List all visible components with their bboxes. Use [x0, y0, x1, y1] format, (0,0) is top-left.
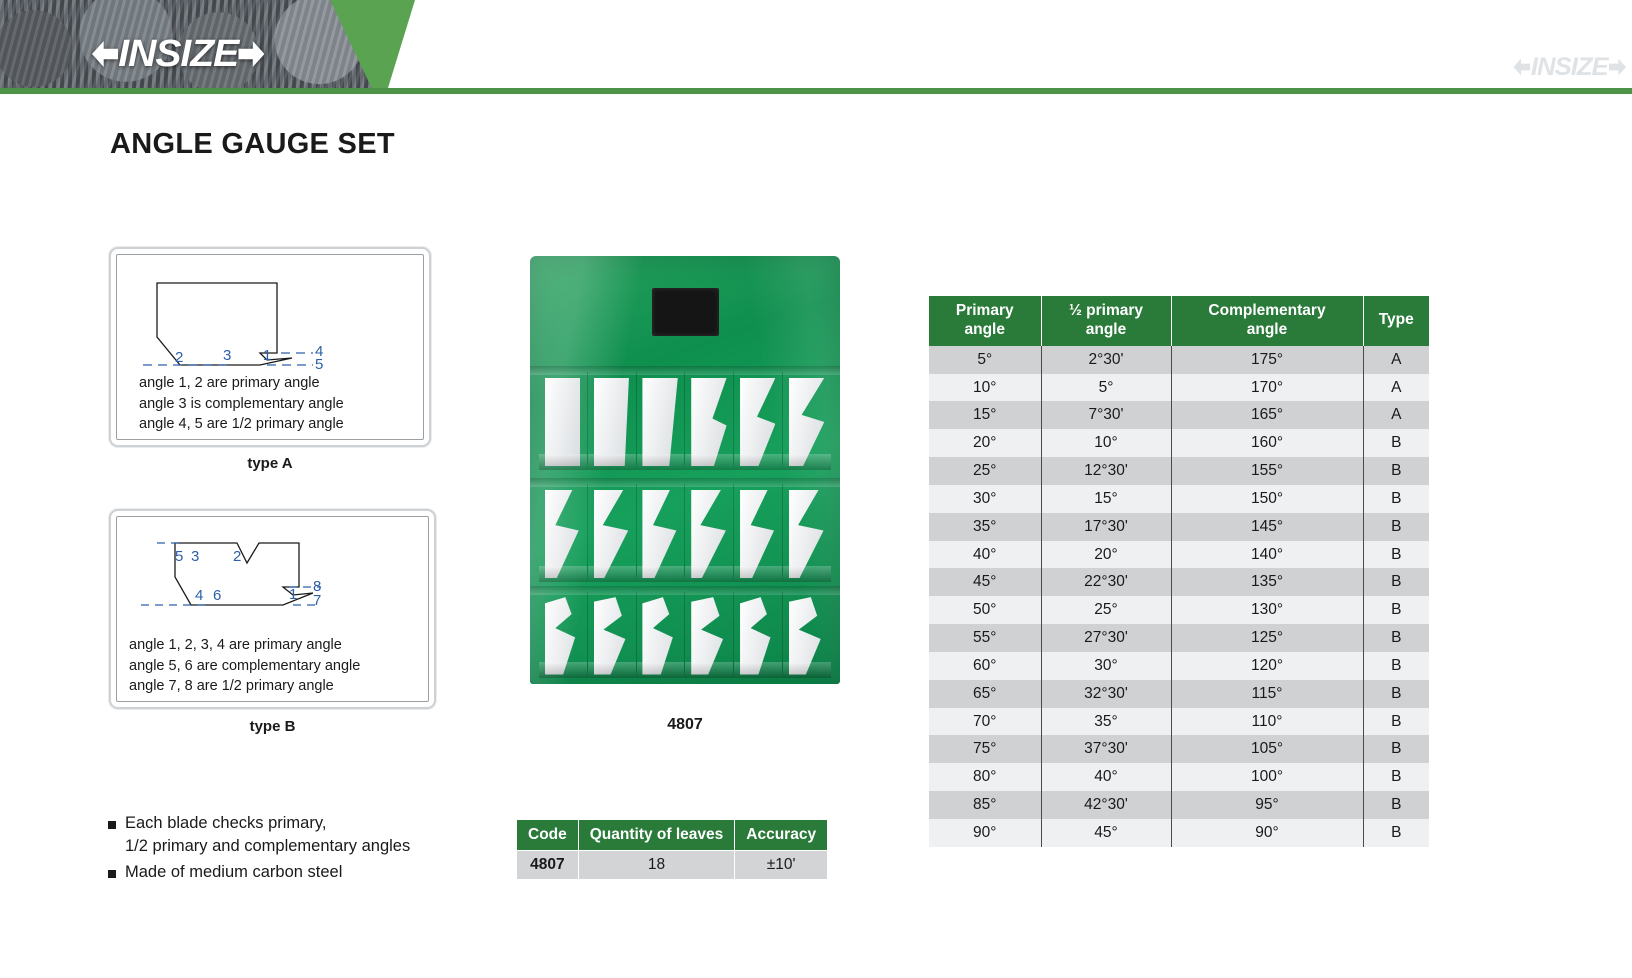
angle-cell-type: B — [1363, 541, 1429, 569]
angle-cell-complementary: 95° — [1171, 791, 1363, 819]
diagram-card-type-b: 5 3 2 4 6 1 8 7 angle 1, 2, 3, 4 are pri… — [109, 509, 436, 709]
angle-cell-half-primary: 35° — [1041, 708, 1171, 736]
angle-cell-half-primary: 40° — [1041, 763, 1171, 791]
angle-cell-type: A — [1363, 346, 1429, 374]
type-b-label-7: 7 — [313, 592, 321, 609]
angle-table-row: 20°10°160°B — [929, 429, 1429, 457]
square-bullet-icon — [108, 870, 116, 878]
angle-cell-type: B — [1363, 791, 1429, 819]
type-b-label-2: 2 — [233, 548, 241, 565]
angle-cell-half-primary: 17°30' — [1041, 513, 1171, 541]
logo-right-arrow-icon — [238, 41, 264, 67]
angle-cell-type: B — [1363, 652, 1429, 680]
watermark-left-arrow-icon — [1513, 59, 1530, 76]
blade-pocket — [783, 372, 831, 470]
angle-cell-primary: 5° — [929, 346, 1041, 374]
type-b-caption: type B — [109, 718, 436, 735]
feature-text: Made of medium carbon steel — [125, 861, 342, 884]
angle-cell-complementary: 125° — [1171, 624, 1363, 652]
square-bullet-icon — [108, 821, 116, 829]
spec-table-header-row: Code Quantity of leaves Accuracy — [517, 820, 828, 851]
angle-cell-type: B — [1363, 763, 1429, 791]
angle-cell-type: B — [1363, 513, 1429, 541]
blade-pocket — [685, 592, 734, 678]
angle-cell-half-primary: 7°30' — [1041, 401, 1171, 429]
insize-watermark: INSIZE — [1513, 52, 1626, 82]
page-title: ANGLE GAUGE SET — [110, 128, 395, 161]
spec-header-accuracy: Accuracy — [735, 820, 828, 851]
angle-cell-half-primary: 30° — [1041, 652, 1171, 680]
type-b-label-6: 6 — [213, 587, 221, 604]
angle-table-row: 5°2°30'175°A — [929, 346, 1429, 374]
angle-cell-half-primary: 5° — [1041, 374, 1171, 402]
angle-header-complementary: Complementary angle — [1171, 296, 1363, 346]
angle-cell-complementary: 100° — [1171, 763, 1363, 791]
angle-table: Primary angle ½ primary angle Complement… — [929, 296, 1429, 847]
angle-cell-complementary: 165° — [1171, 401, 1363, 429]
diagram-inner-border-b: 5 3 2 4 6 1 8 7 angle 1, 2, 3, 4 are pri… — [116, 516, 429, 702]
angle-cell-type: A — [1363, 374, 1429, 402]
blade-pocket — [588, 592, 637, 678]
logo-text: INSIZE — [118, 35, 238, 73]
angle-cell-complementary: 170° — [1171, 374, 1363, 402]
type-b-label-5: 5 — [175, 548, 183, 565]
diagram-card-type-a: 2 3 1 4 5 angle 1, 2 are primary angle a… — [109, 247, 431, 447]
type-a-caption: type A — [109, 455, 431, 472]
angle-table-row: 70°35°110°B — [929, 708, 1429, 736]
blade-pocket — [539, 372, 588, 470]
angle-table-row: 75°37°30'105°B — [929, 735, 1429, 763]
angle-cell-primary: 45° — [929, 568, 1041, 596]
blade-pocket — [637, 484, 686, 582]
blade-pocket — [783, 484, 831, 582]
insize-logo: INSIZE — [92, 34, 264, 74]
blade-pocket — [685, 372, 734, 470]
angle-cell-type: B — [1363, 735, 1429, 763]
watermark-right-arrow-icon — [1609, 59, 1626, 76]
angle-cell-half-primary: 12°30' — [1041, 457, 1171, 485]
angle-table-row: 35°17°30'145°B — [929, 513, 1429, 541]
spec-table: Code Quantity of leaves Accuracy 4807 18… — [516, 819, 828, 880]
angle-cell-type: B — [1363, 485, 1429, 513]
angle-table-row: 90°45°90°B — [929, 819, 1429, 847]
header-green-rule — [0, 88, 1632, 94]
angle-table-row: 25°12°30'155°B — [929, 457, 1429, 485]
angle-cell-type: B — [1363, 819, 1429, 847]
angle-cell-half-primary: 15° — [1041, 485, 1171, 513]
angle-cell-type: B — [1363, 429, 1429, 457]
angle-cell-type: B — [1363, 680, 1429, 708]
angle-cell-half-primary: 45° — [1041, 819, 1171, 847]
product-code-label: 4807 — [530, 716, 840, 734]
angle-table-row: 15°7°30'165°A — [929, 401, 1429, 429]
blade-pocket — [685, 484, 734, 582]
feature-item: Each blade checks primary, 1/2 primary a… — [108, 812, 508, 859]
angle-header-type: Type — [1363, 296, 1429, 346]
angle-cell-primary: 10° — [929, 374, 1041, 402]
logo-left-arrow-icon — [92, 41, 118, 67]
angle-cell-complementary: 155° — [1171, 457, 1363, 485]
angle-table-row: 55°27°30'125°B — [929, 624, 1429, 652]
angle-cell-type: B — [1363, 596, 1429, 624]
angle-cell-complementary: 135° — [1171, 568, 1363, 596]
angle-cell-primary: 60° — [929, 652, 1041, 680]
angle-cell-primary: 65° — [929, 680, 1041, 708]
spec-header-code: Code — [517, 820, 579, 851]
angle-cell-primary: 50° — [929, 596, 1041, 624]
angle-table-header-row: Primary angle ½ primary angle Complement… — [929, 296, 1429, 346]
angle-cell-complementary: 110° — [1171, 708, 1363, 736]
angle-cell-primary: 75° — [929, 735, 1041, 763]
angle-cell-complementary: 115° — [1171, 680, 1363, 708]
angle-table-row: 10°5°170°A — [929, 374, 1429, 402]
blade-pocket — [637, 372, 686, 470]
feature-item: Made of medium carbon steel — [108, 861, 508, 884]
angle-cell-primary: 70° — [929, 708, 1041, 736]
angle-cell-complementary: 150° — [1171, 485, 1363, 513]
page-header: INSIZE INSIZE — [0, 0, 1632, 94]
angle-table-row: 30°15°150°B — [929, 485, 1429, 513]
velcro-patch — [652, 288, 719, 336]
angle-cell-complementary: 145° — [1171, 513, 1363, 541]
blade-row-1 — [539, 372, 831, 470]
angle-cell-primary: 20° — [929, 429, 1041, 457]
angle-table-row: 65°32°30'115°B — [929, 680, 1429, 708]
angle-cell-half-primary: 25° — [1041, 596, 1171, 624]
angle-cell-type: B — [1363, 708, 1429, 736]
spec-table-row: 4807 18 ±10' — [517, 851, 828, 880]
angle-cell-type: B — [1363, 568, 1429, 596]
angle-cell-type: B — [1363, 624, 1429, 652]
spec-cell-accuracy: ±10' — [735, 851, 828, 880]
blade-pocket — [734, 372, 783, 470]
type-a-label-2: 2 — [175, 349, 183, 366]
angle-cell-half-primary: 42°30' — [1041, 791, 1171, 819]
angle-table-row: 60°30°120°B — [929, 652, 1429, 680]
type-a-notes: angle 1, 2 are primary angle angle 3 is … — [139, 373, 344, 435]
angle-cell-primary: 80° — [929, 763, 1041, 791]
angle-cell-primary: 35° — [929, 513, 1041, 541]
blade-pocket — [637, 592, 686, 678]
angle-header-primary: Primary angle — [929, 296, 1041, 346]
angle-cell-half-primary: 20° — [1041, 541, 1171, 569]
blade-row-3 — [539, 592, 831, 678]
type-b-label-4: 4 — [195, 587, 203, 604]
diagram-inner-border-a: 2 3 1 4 5 angle 1, 2 are primary angle a… — [116, 254, 424, 440]
product-photo-4807 — [530, 256, 840, 684]
angle-cell-half-primary: 2°30' — [1041, 346, 1171, 374]
angle-cell-type: B — [1363, 457, 1429, 485]
angle-table-row: 85°42°30'95°B — [929, 791, 1429, 819]
angle-cell-half-primary: 22°30' — [1041, 568, 1171, 596]
blade-pocket — [588, 484, 637, 582]
spec-header-quantity: Quantity of leaves — [578, 820, 735, 851]
spec-cell-code: 4807 — [517, 851, 579, 880]
blade-pocket — [539, 484, 588, 582]
angle-cell-complementary: 175° — [1171, 346, 1363, 374]
angle-cell-primary: 25° — [929, 457, 1041, 485]
blade-pocket — [783, 592, 831, 678]
type-b-notes: angle 1, 2, 3, 4 are primary angle angle… — [129, 635, 360, 697]
angle-cell-complementary: 120° — [1171, 652, 1363, 680]
angle-cell-half-primary: 27°30' — [1041, 624, 1171, 652]
angle-cell-primary: 85° — [929, 791, 1041, 819]
blade-pocket — [734, 484, 783, 582]
angle-cell-primary: 15° — [929, 401, 1041, 429]
angle-table-row: 45°22°30'135°B — [929, 568, 1429, 596]
angle-table-row: 50°25°130°B — [929, 596, 1429, 624]
spec-cell-quantity: 18 — [578, 851, 735, 880]
angle-cell-half-primary: 32°30' — [1041, 680, 1171, 708]
angle-cell-complementary: 90° — [1171, 819, 1363, 847]
angle-cell-primary: 90° — [929, 819, 1041, 847]
angle-cell-half-primary: 10° — [1041, 429, 1171, 457]
angle-table-row: 40°20°140°B — [929, 541, 1429, 569]
angle-cell-complementary: 130° — [1171, 596, 1363, 624]
blade-row-2 — [539, 484, 831, 582]
angle-cell-primary: 55° — [929, 624, 1041, 652]
type-b-label-3: 3 — [191, 548, 199, 565]
angle-header-half-primary: ½ primary angle — [1041, 296, 1171, 346]
angle-cell-type: A — [1363, 401, 1429, 429]
feature-list: Each blade checks primary, 1/2 primary a… — [108, 812, 508, 886]
angle-cell-primary: 40° — [929, 541, 1041, 569]
angle-table-row: 80°40°100°B — [929, 763, 1429, 791]
angle-table-body: 5°2°30'175°A10°5°170°A15°7°30'165°A20°10… — [929, 346, 1429, 847]
watermark-text: INSIZE — [1531, 55, 1608, 80]
type-a-label-3: 3 — [223, 347, 231, 364]
type-a-label-1: 1 — [263, 347, 271, 364]
angle-cell-complementary: 160° — [1171, 429, 1363, 457]
angle-cell-complementary: 140° — [1171, 541, 1363, 569]
blade-pocket — [734, 592, 783, 678]
type-a-label-5: 5 — [315, 356, 323, 373]
angle-cell-complementary: 105° — [1171, 735, 1363, 763]
angle-cell-half-primary: 37°30' — [1041, 735, 1171, 763]
blade-pocket — [588, 372, 637, 470]
angle-cell-primary: 30° — [929, 485, 1041, 513]
blade-pocket — [539, 592, 588, 678]
feature-text: Each blade checks primary, 1/2 primary a… — [125, 812, 410, 859]
type-b-label-1: 1 — [289, 586, 297, 603]
